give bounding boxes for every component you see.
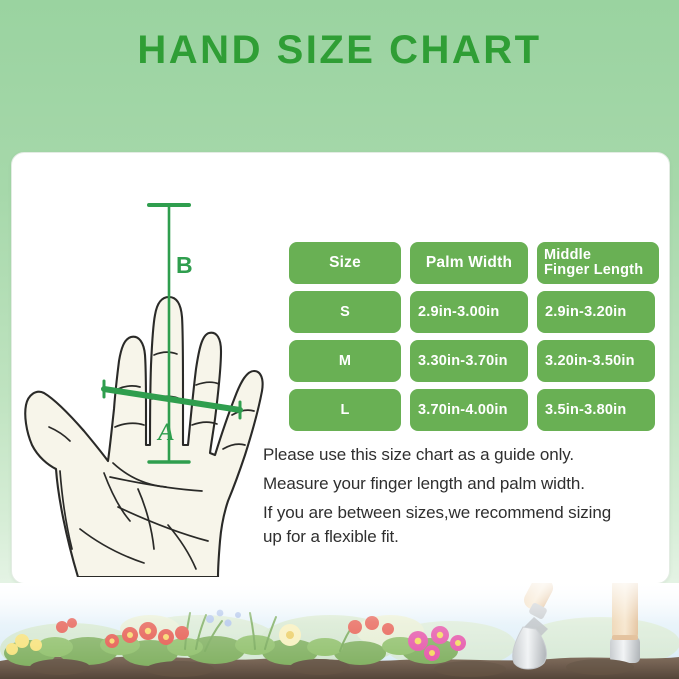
- header-cell-size: Size: [289, 242, 401, 284]
- title-container: HAND SIZE CHART: [0, 28, 679, 73]
- hand-diagram-svg: B A: [18, 177, 286, 577]
- cell-size-l: L: [289, 389, 401, 431]
- table-header-row: Size Palm Width Middle Finger Length: [289, 242, 661, 284]
- cell-finger-length-m: 3.20in-3.50in: [537, 340, 655, 382]
- content-card: B A Size Palm Width Middle: [11, 152, 670, 584]
- hand-size-chart-poster: HAND SIZE CHART: [0, 0, 679, 679]
- header-cell-palm-width: Palm Width: [410, 242, 528, 284]
- measurement-b-label: B: [176, 252, 193, 278]
- note-line-3: If you are between sizes,we recommend si…: [263, 501, 663, 524]
- note-line-4: up for a flexible fit.: [263, 525, 663, 548]
- table-row: M 3.30in-3.70in 3.20in-3.50in: [289, 340, 661, 382]
- header-mid-line-1: Middle: [544, 248, 643, 263]
- hand-outline: [25, 297, 262, 577]
- measurement-a-label: A: [156, 419, 175, 446]
- table-row: L 3.70in-4.00in 3.5in-3.80in: [289, 389, 661, 431]
- note-line-1: Please use this size chart as a guide on…: [263, 443, 663, 466]
- sizing-note: Please use this size chart as a guide on…: [263, 443, 663, 554]
- header-mid-line-2: Finger Length: [544, 263, 643, 278]
- table-row: S 2.9in-3.00in 2.9in-3.20in: [289, 291, 661, 333]
- garden-photo-svg: [0, 583, 679, 679]
- size-table: Size Palm Width Middle Finger Length S 2…: [289, 242, 661, 438]
- photo-fade-overlay: [0, 583, 679, 679]
- cell-finger-length-l: 3.5in-3.80in: [537, 389, 655, 431]
- page-title: HAND SIZE CHART: [0, 28, 679, 73]
- cell-size-m: M: [289, 340, 401, 382]
- cell-size-s: S: [289, 291, 401, 333]
- cell-palm-width-s: 2.9in-3.00in: [410, 291, 528, 333]
- hand-illustration: B A: [18, 177, 286, 577]
- cell-palm-width-m: 3.30in-3.70in: [410, 340, 528, 382]
- garden-photo-strip: [0, 583, 679, 679]
- cell-finger-length-s: 2.9in-3.20in: [537, 291, 655, 333]
- header-cell-middle-finger-length: Middle Finger Length: [537, 242, 659, 284]
- note-line-2: Measure your finger length and palm widt…: [263, 472, 663, 495]
- cell-palm-width-l: 3.70in-4.00in: [410, 389, 528, 431]
